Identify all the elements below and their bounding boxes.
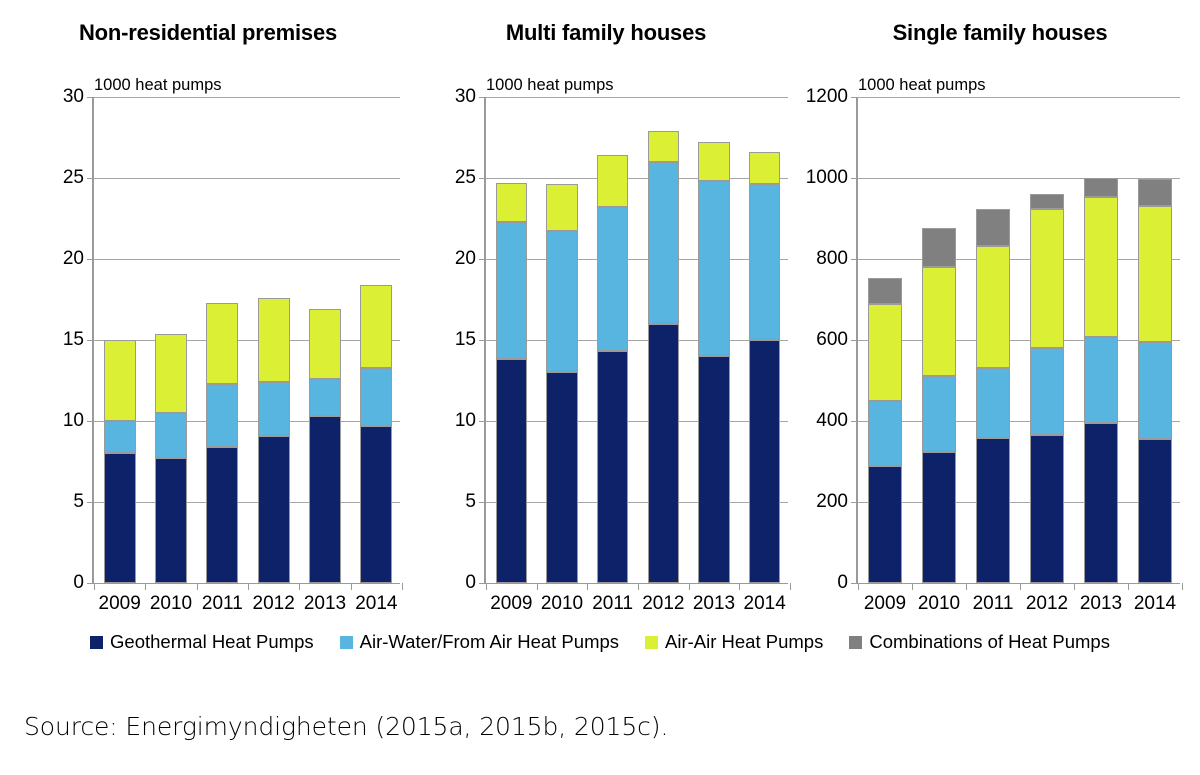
bar-2009[interactable] [104,97,136,583]
bar-segment [597,155,628,207]
x-axis-tick [912,583,913,590]
bar-segment [546,231,577,372]
bar-segment [258,382,290,435]
gridline [94,502,400,503]
gridline [486,259,788,260]
bar-segment [155,334,187,413]
x-axis-label-2012: 2012 [642,593,684,615]
y-axis-tick [479,97,486,98]
bar-segment [104,340,136,421]
x-axis-tick [248,583,249,590]
bar-segment [1030,435,1063,583]
y-axis-label: 30 [63,86,84,108]
bar-segment [1084,337,1117,423]
x-axis-tick [94,583,95,590]
bar-segment [1138,342,1171,439]
x-axis-tick [1128,583,1129,590]
plot-area-1: 051015202530200920102011201220132014 [484,97,788,583]
bar-segment [496,222,527,360]
y-axis-unit-2: 1000 heat pumps [858,76,986,95]
bar-segment [1084,197,1117,337]
bar-segment [976,246,1009,368]
legend-label-air-air: Air-Air Heat Pumps [665,631,823,653]
bar-segment [868,466,901,583]
gridline [858,259,1180,260]
bar-segment [546,372,577,583]
bar-2010[interactable] [922,97,955,583]
bar-segment [698,142,729,181]
charts-container: Non-residential premises 1000 heat pumps… [0,0,1200,618]
y-axis-label: 20 [63,248,84,270]
bar-segment [749,152,780,184]
bar-segment [922,376,955,452]
y-axis-tick [87,583,94,584]
gridline [94,340,400,341]
x-axis-label-2013: 2013 [1080,593,1122,615]
chart-title-1: Multi family houses [410,20,802,46]
y-axis-tick [479,583,486,584]
bar-segment [206,447,238,583]
bar-2011[interactable] [597,97,628,583]
chart-panel-multi-family: Multi family houses 1000 heat pumps 0510… [410,0,802,618]
gridline [858,97,1180,98]
y-axis-label: 1000 [806,167,848,189]
x-axis-line [94,583,400,584]
bar-2013[interactable] [698,97,729,583]
y-axis-label: 10 [455,410,476,432]
gridline [94,97,400,98]
bar-segment [976,368,1009,439]
bar-segment [1138,206,1171,342]
bar-2010[interactable] [155,97,187,583]
gridline [486,178,788,179]
chart-panel-single-family: Single family houses 1000 heat pumps 020… [804,0,1196,618]
x-axis-label-2010: 2010 [150,593,192,615]
bar-segment [258,436,290,583]
y-axis-tick [851,340,858,341]
y-axis-label: 400 [816,410,848,432]
bar-2010[interactable] [546,97,577,583]
y-axis-label: 25 [455,167,476,189]
legend-swatch-air-water [340,636,353,649]
y-axis-tick [479,178,486,179]
bar-segment [206,384,238,447]
x-axis-label-2014: 2014 [744,593,786,615]
chart-title-0: Non-residential premises [8,20,408,46]
bar-segment [868,304,901,401]
bar-segment [868,401,901,466]
x-axis-line [486,583,788,584]
bar-segment [597,207,628,351]
bar-2012[interactable] [1030,97,1063,583]
y-axis-label: 600 [816,329,848,351]
x-axis-tick [145,583,146,590]
x-axis-label-2014: 2014 [355,593,397,615]
y-axis-unit-0: 1000 heat pumps [94,76,222,95]
x-axis-line [858,583,1180,584]
bar-segment [496,359,527,583]
bar-segment [309,379,341,416]
y-axis-label: 20 [455,248,476,270]
y-axis-unit-1: 1000 heat pumps [486,76,614,95]
x-axis-tick [537,583,538,590]
chart-title-2: Single family houses [804,20,1196,46]
bar-2009[interactable] [868,97,901,583]
bar-segment [360,426,392,583]
y-axis-tick [851,259,858,260]
legend-item-air-air[interactable]: Air-Air Heat Pumps [645,631,823,653]
bar-segment [922,452,955,583]
bar-segment [648,162,679,324]
x-axis-label-2011: 2011 [973,593,1014,615]
y-axis-tick [479,421,486,422]
y-axis-tick [851,97,858,98]
x-axis-label-2012: 2012 [253,593,295,615]
legend-swatch-geothermal [90,636,103,649]
chart-panel-non-residential: Non-residential premises 1000 heat pumps… [8,0,408,618]
legend-swatch-combinations [849,636,862,649]
y-axis-label: 15 [455,329,476,351]
x-axis-tick [966,583,967,590]
bar-segment [546,184,577,231]
x-axis-tick [790,583,791,590]
bar-2011[interactable] [976,97,1009,583]
bar-segment [698,181,729,356]
x-axis-label-2009: 2009 [864,593,906,615]
bar-segment [1138,179,1171,207]
legend-item-geothermal[interactable]: Geothermal Heat Pumps [90,631,314,653]
gridline [486,421,788,422]
y-axis-tick [87,502,94,503]
bar-2009[interactable] [496,97,527,583]
x-axis-tick [299,583,300,590]
plot-area-0: 051015202530200920102011201220132014 [92,97,400,583]
x-axis-label-2010: 2010 [918,593,960,615]
y-axis-tick [479,502,486,503]
x-axis-label-2011: 2011 [592,593,633,615]
bar-segment [597,351,628,583]
bar-segment [104,453,136,583]
bar-segment [749,340,780,583]
source-note: Source: Energimyndigheten (2015a, 2015b,… [24,712,668,741]
y-axis-tick [87,340,94,341]
y-axis-tick [851,502,858,503]
x-axis-label-2010: 2010 [541,593,583,615]
x-axis-tick [1020,583,1021,590]
y-axis-tick [87,97,94,98]
bar-segment [1084,423,1117,583]
legend-label-combinations: Combinations of Heat Pumps [869,631,1110,653]
bar-segment [1084,178,1117,197]
gridline [858,502,1180,503]
bar-2014[interactable] [360,97,392,583]
x-axis-tick [197,583,198,590]
y-axis-label: 25 [63,167,84,189]
gridline [486,97,788,98]
bar-segment [868,278,901,304]
x-axis-label-2013: 2013 [693,593,735,615]
x-axis-tick [739,583,740,590]
bar-segment [258,298,290,382]
legend-label-geothermal: Geothermal Heat Pumps [110,631,314,653]
bar-2011[interactable] [206,97,238,583]
y-axis-tick [851,583,858,584]
bar-segment [1138,439,1171,583]
x-axis-label-2012: 2012 [1026,593,1068,615]
y-axis-label: 0 [837,572,848,594]
y-axis-tick [87,421,94,422]
bar-segment [922,228,955,267]
bar-segment [976,438,1009,583]
y-axis-tick [851,178,858,179]
y-axis-label: 5 [465,491,476,513]
x-axis-tick [486,583,487,590]
bar-segment [976,209,1009,246]
y-axis-label: 200 [816,491,848,513]
bar-2012[interactable] [258,97,290,583]
y-axis-label: 30 [455,86,476,108]
bar-segment [496,183,527,222]
y-axis-tick [479,259,486,260]
gridline [858,421,1180,422]
legend-item-air-water[interactable]: Air-Water/From Air Heat Pumps [340,631,619,653]
x-axis-label-2009: 2009 [490,593,532,615]
bar-segment [206,303,238,384]
bar-2013[interactable] [1084,97,1117,583]
bar-segment [155,458,187,583]
y-axis-label: 0 [465,572,476,594]
plot-area-2: 0200400600800100012002009201020112012201… [856,97,1180,583]
legend-item-combinations[interactable]: Combinations of Heat Pumps [849,631,1110,653]
bar-2013[interactable] [309,97,341,583]
x-axis-tick [1182,583,1183,590]
bar-segment [360,285,392,368]
bar-segment [155,413,187,458]
bar-2014[interactable] [1138,97,1171,583]
x-axis-tick [351,583,352,590]
bar-segment [309,309,341,379]
x-axis-label-2009: 2009 [99,593,141,615]
y-axis-tick [479,340,486,341]
x-axis-label-2013: 2013 [304,593,346,615]
x-axis-label-2011: 2011 [202,593,243,615]
y-axis-label: 1200 [806,86,848,108]
bar-segment [749,184,780,340]
y-axis-label: 5 [73,491,84,513]
bar-segment [1030,348,1063,435]
y-axis-tick [87,178,94,179]
x-axis-tick [858,583,859,590]
bar-segment [104,421,136,453]
bar-segment [1030,194,1063,209]
legend-label-air-water: Air-Water/From Air Heat Pumps [360,631,619,653]
y-axis-tick [851,421,858,422]
x-axis-label-2014: 2014 [1134,593,1176,615]
x-axis-tick [689,583,690,590]
bar-segment [648,131,679,162]
x-axis-tick [402,583,403,590]
x-axis-tick [587,583,588,590]
bar-segment [360,368,392,426]
y-axis-label: 0 [73,572,84,594]
bar-segment [648,324,679,583]
x-axis-tick [1074,583,1075,590]
bar-2012[interactable] [648,97,679,583]
gridline [94,178,400,179]
gridline [858,178,1180,179]
bar-segment [922,267,955,376]
gridline [94,259,400,260]
bar-segment [1030,209,1063,348]
y-axis-tick [87,259,94,260]
gridline [94,421,400,422]
y-axis-label: 15 [63,329,84,351]
x-axis-tick [638,583,639,590]
gridline [486,340,788,341]
bar-segment [698,356,729,583]
bar-2014[interactable] [749,97,780,583]
y-axis-label: 10 [63,410,84,432]
y-axis-label: 800 [816,248,848,270]
legend-swatch-air-air [645,636,658,649]
legend: Geothermal Heat Pumps Air-Water/From Air… [0,628,1200,656]
gridline [486,502,788,503]
bar-segment [309,416,341,583]
gridline [858,340,1180,341]
